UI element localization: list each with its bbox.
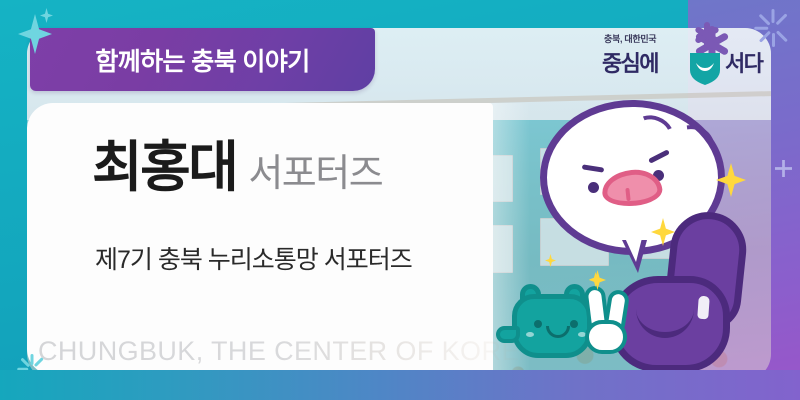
watermark-text: CHUNGBUK, THE CENTER OF KOREA [38, 336, 538, 367]
teal-eye-right [570, 320, 578, 328]
sparkle-teal-small [40, 8, 53, 23]
sparkle-icon [545, 254, 556, 267]
sparkle-yellow-4 [545, 254, 556, 267]
sparkle-cross-right [775, 160, 792, 177]
sparkle-icon [716, 163, 746, 197]
sparkle-yellow-5 [589, 272, 602, 287]
sparkle-icon [775, 160, 792, 177]
header-tab: 함께하는 충북 이야기 [30, 28, 375, 91]
snowflake-icon [690, 18, 724, 52]
page-title-suffix: 서포터즈 [248, 155, 382, 193]
title-row: 최홍대 서포터즈 [92, 140, 382, 195]
sparkle-yellow-1 [716, 163, 746, 197]
sparkle-icon [40, 8, 53, 23]
teal-eye-left [534, 320, 542, 328]
sparkle-icon [651, 218, 675, 246]
teal-blush-left [526, 332, 534, 337]
teal-palm [585, 320, 627, 354]
page-title: 최홍대 [92, 140, 236, 195]
ci-word-left: 중심에 [602, 46, 658, 78]
chungbuk-ci-logo: 충북, 대한민국 중심에 서다 [600, 32, 770, 92]
teal-victory-hand [584, 286, 630, 354]
shield-icon [688, 50, 722, 86]
eye-left [588, 182, 599, 193]
page-subtitle: 제7기 충북 누리소통망 서포터즈 [95, 240, 412, 276]
teal-hand-left [496, 326, 520, 343]
hand-thumbnail [697, 296, 710, 320]
bottom-gradient-band [0, 370, 800, 400]
sparkle-icon [589, 272, 602, 287]
sparkle-burst-top-right [752, 8, 792, 48]
promo-banner: 충청북도청 함께하는 충북 이야기 최홍대 서포터즈 제7기 충북 누리소통망 … [0, 0, 800, 400]
mascot-teal-character [498, 280, 633, 375]
ci-tagline: 충북, 대한민국 [604, 32, 656, 45]
header-tab-label: 함께하는 충북 이야기 [95, 42, 309, 78]
sparkle-yellow-2 [651, 218, 675, 246]
